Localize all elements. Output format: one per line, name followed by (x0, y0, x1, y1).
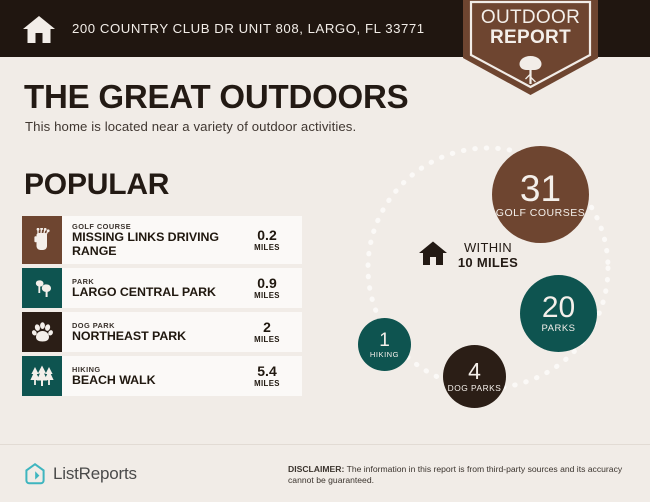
list-item-name: MISSING LINKS DRIVING RANGE (72, 231, 236, 258)
list-item[interactable]: GOLF COURSE MISSING LINKS DRIVING RANGE … (22, 216, 302, 264)
badge-line2: REPORT (463, 28, 598, 48)
list-item-distance-unit: MILES (254, 243, 280, 253)
list-item-distance-unit: MILES (254, 291, 280, 301)
paw-print-icon (31, 321, 54, 343)
badge-text: OUTDOOR REPORT (463, 8, 598, 48)
disclaimer: DISCLAIMER: The information in this repo… (288, 464, 628, 486)
disclaimer-label: DISCLAIMER: (288, 464, 344, 474)
stat-label: HIKING (370, 351, 399, 359)
list-item[interactable]: PARK LARGO CENTRAL PARK 0.9 MILES (22, 268, 302, 308)
list-item-info: PARK LARGO CENTRAL PARK (62, 268, 236, 308)
diagram-center-label: WITHIN 10 MILES (418, 240, 558, 270)
listreports-logo-text: ListReports (53, 464, 137, 484)
badge-line1: OUTDOOR (481, 7, 580, 28)
list-item-distance-value: 2 (263, 320, 271, 335)
header-address: 200 COUNTRY CLUB DR UNIT 808, LARGO, FL … (72, 21, 425, 36)
listreports-house-icon (24, 462, 46, 486)
footer-divider (0, 444, 650, 445)
stat-count: 1 (379, 331, 390, 350)
page-subtitle: This home is located near a variety of o… (25, 119, 356, 134)
list-item-distance-value: 5.4 (257, 364, 276, 379)
list-item-icon-tile (22, 356, 62, 396)
stat-label: GOLF COURSES (496, 208, 585, 219)
stat-bubble-dog-parks[interactable]: 4 DOG PARKS (443, 345, 506, 408)
popular-section-title: POPULAR (24, 168, 169, 202)
list-item-distance-value: 0.9 (257, 276, 276, 291)
list-item-name: BEACH WALK (72, 374, 236, 388)
list-item-distance-unit: MILES (254, 379, 280, 389)
list-item-info: DOG PARK NORTHEAST PARK (62, 312, 236, 352)
stat-bubble-parks[interactable]: 20 PARKS (520, 275, 597, 352)
stat-count: 4 (468, 360, 481, 383)
stat-label: DOG PARKS (448, 384, 502, 393)
list-item-info: HIKING BEACH WALK (62, 356, 236, 396)
list-item-icon-tile (22, 268, 62, 308)
outdoor-report-badge: OUTDOOR REPORT (463, 0, 598, 95)
stat-bubble-hiking[interactable]: 1 HIKING (358, 318, 411, 371)
stat-count: 20 (542, 293, 575, 323)
list-item-distance: 0.2 MILES (236, 216, 302, 264)
pine-trees-icon (29, 365, 55, 387)
list-item-name: NORTHEAST PARK (72, 330, 236, 344)
golf-bag-icon (31, 228, 53, 252)
list-item[interactable]: DOG PARK NORTHEAST PARK 2 MILES (22, 312, 302, 352)
page-title: THE GREAT OUTDOORS (24, 78, 408, 116)
stat-label: PARKS (541, 324, 575, 334)
list-item[interactable]: HIKING BEACH WALK 5.4 MILES (22, 356, 302, 396)
list-item-distance: 0.9 MILES (236, 268, 302, 308)
stat-bubble-golf-courses[interactable]: 31 GOLF COURSES (492, 146, 589, 243)
list-item-distance-value: 0.2 (257, 228, 276, 243)
park-tree-icon (30, 277, 54, 299)
list-item-distance: 2 MILES (236, 312, 302, 352)
home-icon (418, 240, 448, 266)
listreports-logo[interactable]: ListReports (24, 462, 137, 486)
home-icon (22, 14, 56, 44)
outdoor-report-page: 200 COUNTRY CLUB DR UNIT 808, LARGO, FL … (0, 0, 650, 502)
list-item-info: GOLF COURSE MISSING LINKS DRIVING RANGE (62, 216, 236, 264)
stat-count: 31 (520, 170, 561, 207)
list-item-icon-tile (22, 312, 62, 352)
list-item-icon-tile (22, 216, 62, 264)
list-item-distance-unit: MILES (254, 335, 280, 345)
popular-list: GOLF COURSE MISSING LINKS DRIVING RANGE … (22, 216, 302, 400)
list-item-distance: 5.4 MILES (236, 356, 302, 396)
list-item-name: LARGO CENTRAL PARK (72, 286, 236, 300)
within-10-miles-diagram: WITHIN 10 MILES 31 GOLF COURSES 20 PARKS… (330, 140, 650, 440)
